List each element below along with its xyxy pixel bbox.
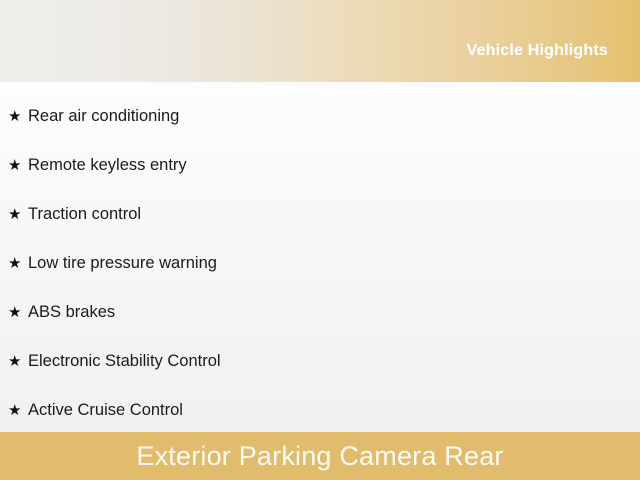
feature-label: Low tire pressure warning (28, 254, 217, 274)
star-icon: ★ (8, 207, 28, 222)
list-item: ★ Active Cruise Control (0, 386, 640, 432)
list-item: ★ Rear air conditioning (0, 92, 640, 141)
star-icon: ★ (8, 354, 28, 369)
feature-label: Traction control (28, 205, 141, 225)
vehicle-highlights-card: Vehicle Highlights ★ Rear air conditioni… (0, 0, 640, 480)
feature-label: Rear air conditioning (28, 107, 179, 127)
star-icon: ★ (8, 256, 28, 271)
list-item: ★ ABS brakes (0, 288, 640, 337)
feature-label: ABS brakes (28, 303, 115, 323)
list-item: ★ Electronic Stability Control (0, 337, 640, 386)
star-icon: ★ (8, 158, 28, 173)
star-icon: ★ (8, 305, 28, 320)
footer-caption: Exterior Parking Camera Rear (136, 443, 503, 470)
card-header: Vehicle Highlights (0, 0, 640, 82)
list-item: ★ Remote keyless entry (0, 141, 640, 190)
page-title: Vehicle Highlights (467, 22, 640, 60)
feature-label: Active Cruise Control (28, 401, 183, 421)
feature-label: Electronic Stability Control (28, 352, 221, 372)
list-item: ★ Traction control (0, 190, 640, 239)
highlights-section: ★ Rear air conditioning ★ Remote keyless… (0, 82, 640, 432)
feature-label: Remote keyless entry (28, 156, 187, 176)
feature-list: ★ Rear air conditioning ★ Remote keyless… (0, 92, 640, 432)
card-footer: Exterior Parking Camera Rear (0, 432, 640, 480)
star-icon: ★ (8, 403, 28, 418)
star-icon: ★ (8, 109, 28, 124)
list-item: ★ Low tire pressure warning (0, 239, 640, 288)
